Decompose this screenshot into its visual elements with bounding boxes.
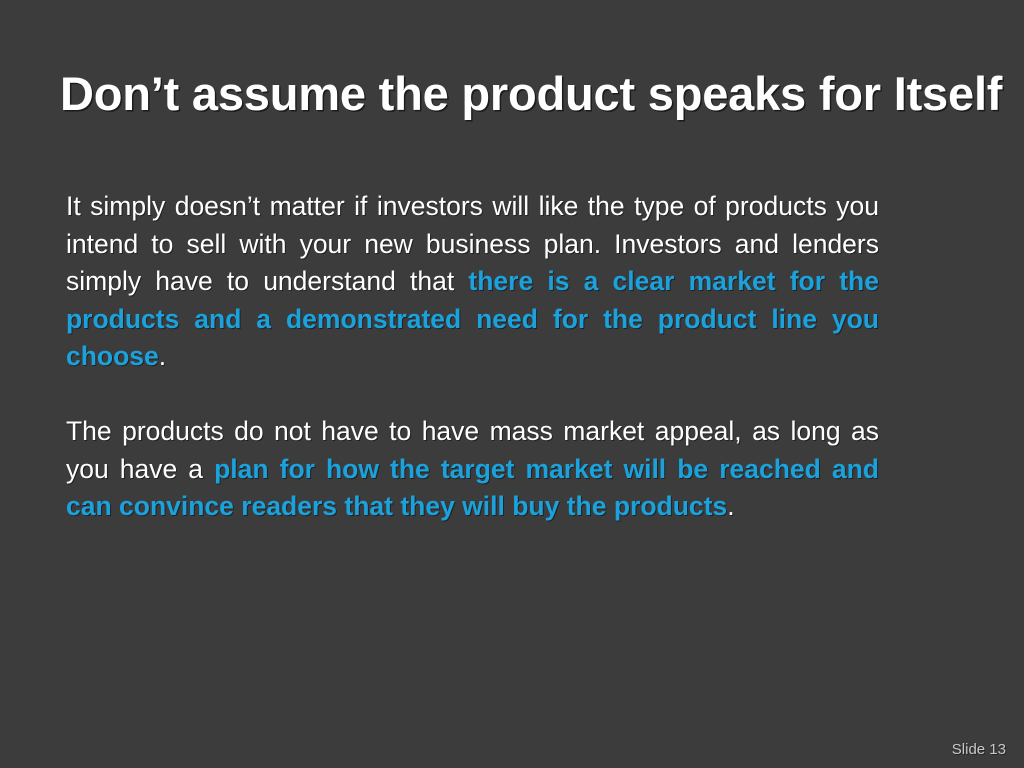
page-title: Don’t assume the product speaks for Itse…: [60, 66, 964, 122]
slide-canvas: Don’t assume the product speaks for Itse…: [0, 0, 1024, 768]
body-text: .: [159, 341, 166, 371]
paragraph-1: It simply doesn’t matter if investors wi…: [66, 188, 879, 376]
body-text: .: [727, 491, 734, 521]
paragraph-2: The products do not have to have mass ma…: [66, 413, 879, 526]
slide-number: Slide 13: [952, 740, 1006, 760]
slide-body: It simply doesn’t matter if investors wi…: [66, 188, 879, 526]
